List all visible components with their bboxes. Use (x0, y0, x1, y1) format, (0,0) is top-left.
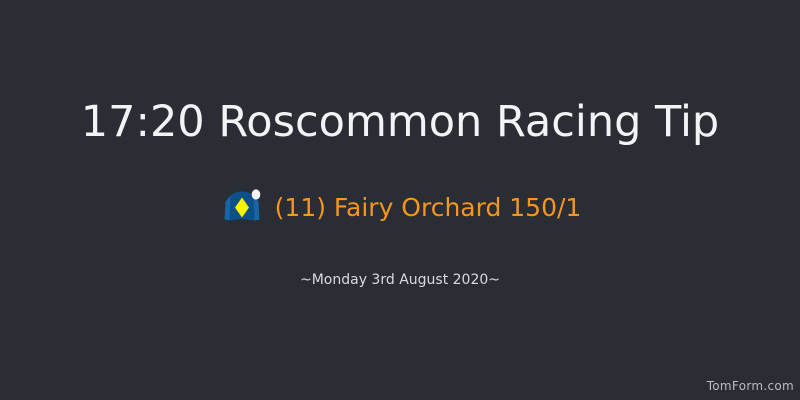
silks-icon-wrapper (219, 186, 263, 230)
race-date: ~Monday 3rd August 2020~ (0, 271, 800, 289)
racing-tip-card: 17:20 Roscommon Racing Tip (11) Fairy Or… (0, 0, 800, 400)
selection-label: (11) Fairy Orchard 150/1 (275, 193, 582, 223)
watermark: TomForm.com (707, 378, 794, 394)
selection-row: (11) Fairy Orchard 150/1 (0, 186, 800, 230)
page-title: 17:20 Roscommon Racing Tip (0, 96, 800, 148)
racing-silks-icon (219, 186, 263, 230)
